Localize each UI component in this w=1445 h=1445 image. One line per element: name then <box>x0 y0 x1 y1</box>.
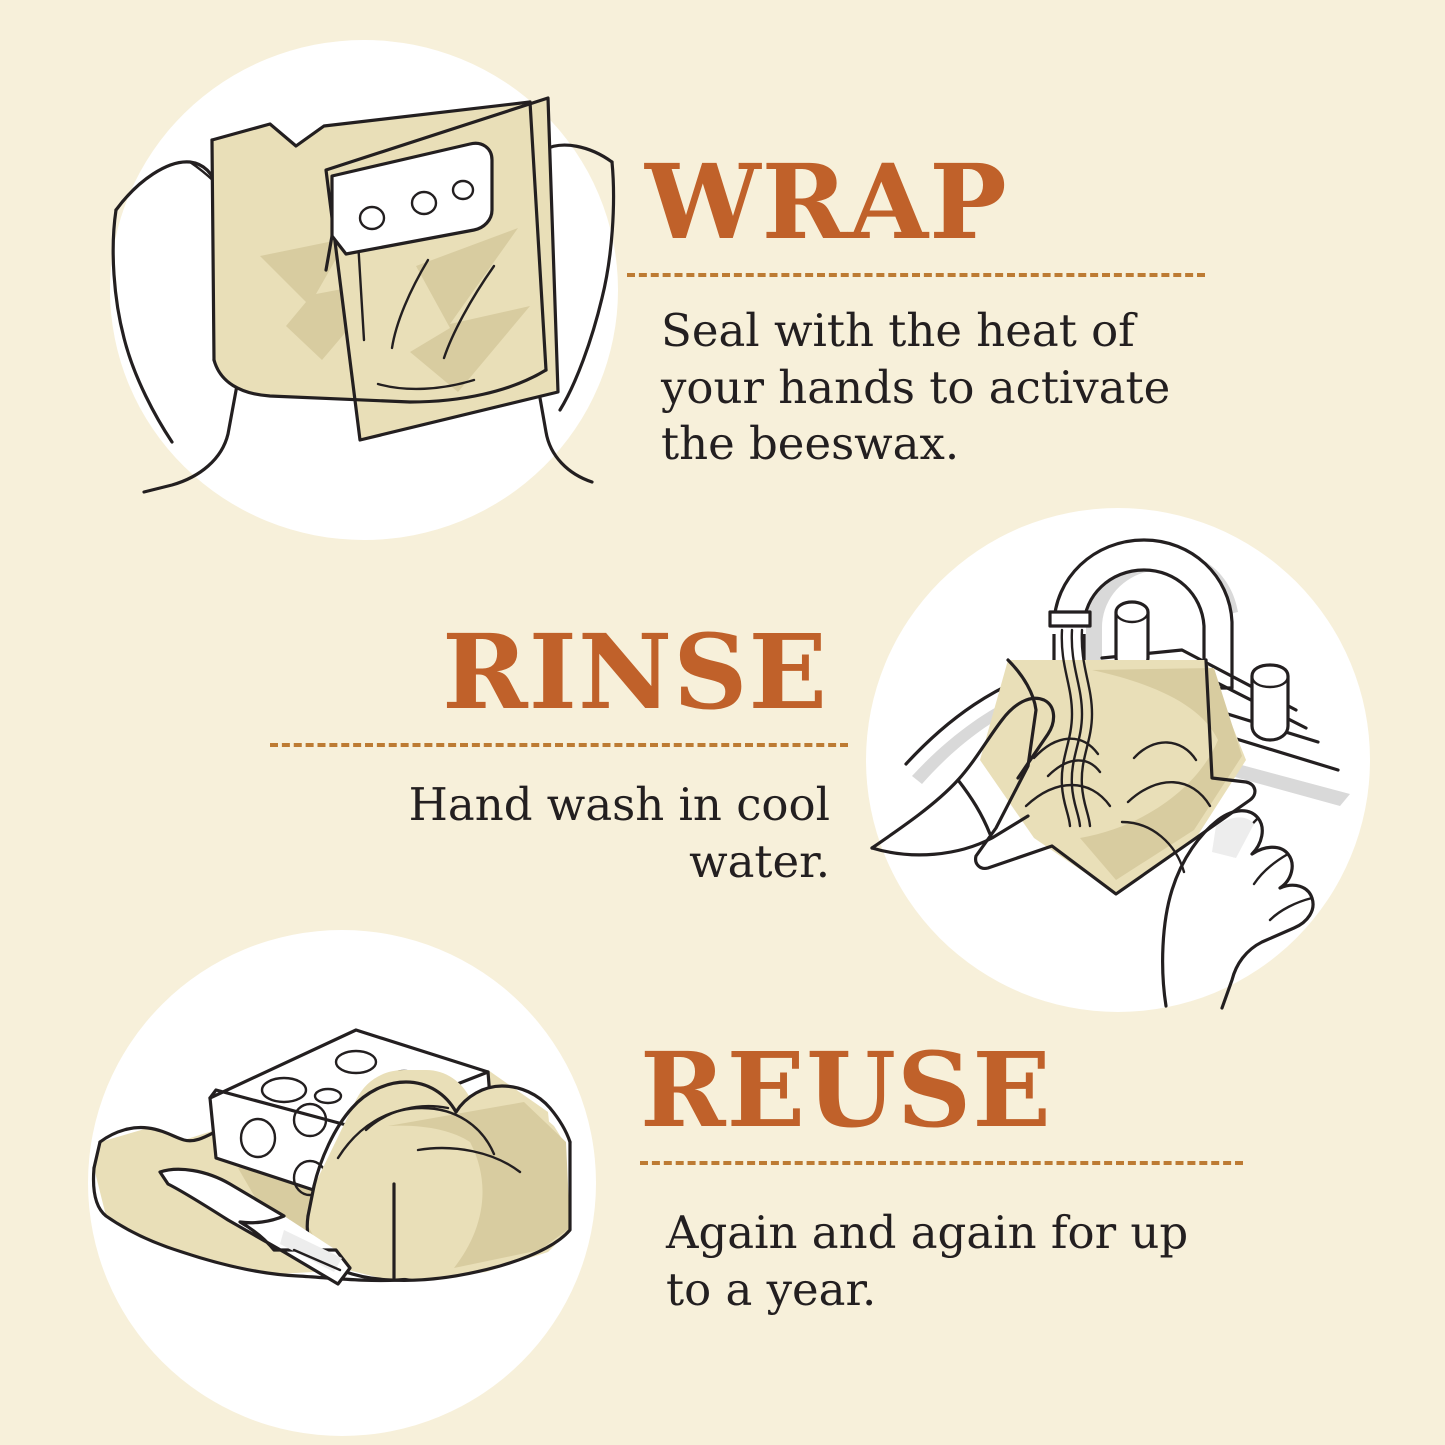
step-heading-rinse: RINSE <box>270 620 850 725</box>
step-body-wrap: Seal with the heat of your hands to acti… <box>627 277 1237 473</box>
illustration-circle-rinse <box>866 508 1370 1012</box>
cheese-block-wrapped-with-knife-icon <box>88 930 596 1436</box>
step-text-rinse: RINSE Hand wash in cool water. <box>270 620 850 890</box>
infographic-canvas: WRAP Seal with the heat of your hands to… <box>0 0 1445 1445</box>
step-body-rinse: Hand wash in cool water. <box>270 747 850 890</box>
step-body-reuse: Again and again for up to a year. <box>640 1165 1245 1318</box>
hands-wrapping-sandwich-icon <box>110 40 618 540</box>
step-text-wrap: WRAP Seal with the heat of your hands to… <box>627 150 1237 473</box>
step-heading-wrap: WRAP <box>627 150 1237 255</box>
illustration-circle-reuse <box>88 930 596 1436</box>
hands-rinsing-wrap-under-faucet-icon <box>866 508 1370 1012</box>
step-text-reuse: REUSE Again and again for up to a year. <box>640 1038 1245 1318</box>
step-heading-reuse: REUSE <box>640 1038 1245 1143</box>
illustration-circle-wrap <box>110 40 618 540</box>
